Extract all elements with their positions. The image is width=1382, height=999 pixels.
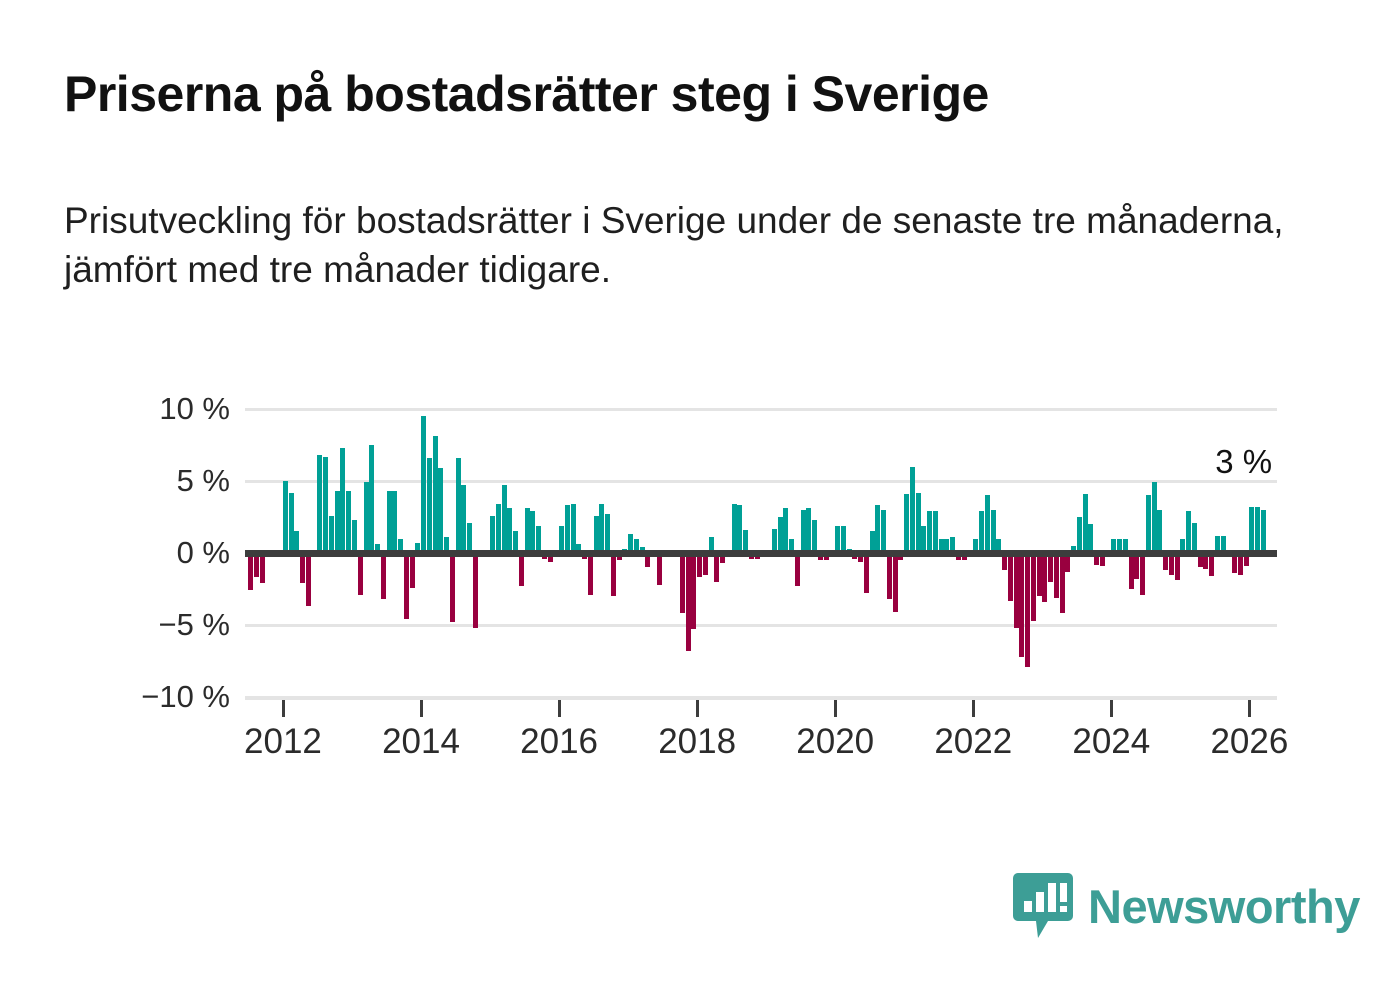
bar bbox=[438, 468, 443, 553]
bar bbox=[893, 553, 898, 612]
bar bbox=[1060, 553, 1065, 613]
bar bbox=[611, 553, 616, 596]
chart-page: Priserna på bostadsrätter steg i Sverige… bbox=[0, 0, 1382, 999]
bar bbox=[317, 455, 322, 553]
bar bbox=[559, 526, 564, 553]
bar bbox=[1146, 495, 1151, 553]
bar bbox=[910, 467, 915, 553]
bar bbox=[657, 553, 662, 585]
y-axis-tick-label: 0 % bbox=[70, 535, 230, 571]
bar bbox=[392, 491, 397, 553]
bar bbox=[991, 510, 996, 553]
bar bbox=[364, 482, 369, 553]
bar bbox=[340, 448, 345, 553]
bar bbox=[778, 517, 783, 553]
bar bbox=[433, 436, 438, 553]
x-axis-tick-mark bbox=[696, 700, 699, 717]
newsworthy-logo[interactable]: Newsworthy bbox=[1012, 872, 1360, 940]
x-axis-tick-label: 2018 bbox=[658, 722, 736, 762]
x-axis-tick-mark bbox=[1110, 700, 1113, 717]
bar bbox=[404, 553, 409, 619]
bar bbox=[473, 553, 478, 628]
bar bbox=[686, 553, 691, 651]
bar bbox=[864, 553, 869, 593]
bar bbox=[283, 481, 288, 553]
bar-chart: 10 %5 %0 %−5 %−10 % 20122014201620182020… bbox=[0, 370, 1382, 790]
bar bbox=[835, 526, 840, 553]
bar bbox=[427, 458, 432, 553]
bar bbox=[732, 504, 737, 553]
bar bbox=[1129, 553, 1134, 589]
bar bbox=[1031, 553, 1036, 621]
bar bbox=[921, 526, 926, 553]
bar bbox=[496, 504, 501, 553]
bar bbox=[346, 491, 351, 553]
bar bbox=[450, 553, 455, 622]
x-axis-tick-label: 2014 bbox=[382, 722, 460, 762]
bar bbox=[783, 508, 788, 553]
bar bbox=[1083, 494, 1088, 553]
x-axis-tick-mark bbox=[282, 700, 285, 717]
bar bbox=[329, 516, 334, 553]
bar bbox=[1192, 523, 1197, 553]
x-axis-tick-mark bbox=[972, 700, 975, 717]
bar bbox=[599, 504, 604, 553]
bar bbox=[1077, 517, 1082, 553]
page-title: Priserna på bostadsrätter steg i Sverige bbox=[64, 66, 1314, 122]
bar bbox=[490, 516, 495, 553]
bar bbox=[306, 553, 311, 606]
bar bbox=[1186, 511, 1191, 553]
bar bbox=[530, 511, 535, 553]
bar bbox=[456, 458, 461, 553]
bar bbox=[1175, 553, 1180, 580]
bar bbox=[875, 505, 880, 553]
bar bbox=[323, 457, 328, 553]
bar bbox=[691, 553, 696, 629]
bar bbox=[352, 520, 357, 553]
bar bbox=[588, 553, 593, 595]
bar bbox=[421, 416, 426, 553]
y-axis-tick-label: 5 % bbox=[70, 463, 230, 499]
x-axis-line bbox=[245, 697, 1277, 700]
bar bbox=[519, 553, 524, 586]
bar bbox=[1019, 553, 1024, 657]
plot-area bbox=[245, 409, 1277, 697]
y-axis-tick-label: −5 % bbox=[70, 607, 230, 643]
bar bbox=[1042, 553, 1047, 602]
bar bbox=[680, 553, 685, 613]
bar bbox=[841, 526, 846, 553]
bar bbox=[605, 514, 610, 553]
bar bbox=[387, 491, 392, 553]
bar bbox=[536, 526, 541, 553]
bar bbox=[381, 553, 386, 599]
x-axis-tick-mark bbox=[420, 700, 423, 717]
bar bbox=[410, 553, 415, 588]
bar bbox=[594, 516, 599, 553]
bar bbox=[1261, 510, 1266, 553]
bar bbox=[795, 553, 800, 586]
bar bbox=[927, 511, 932, 553]
bar bbox=[1048, 553, 1053, 582]
bar bbox=[507, 508, 512, 553]
y-axis-tick-label: −10 % bbox=[70, 679, 230, 715]
bar bbox=[335, 491, 340, 553]
bar bbox=[248, 553, 253, 590]
bar bbox=[358, 553, 363, 595]
bar bbox=[979, 511, 984, 553]
bar bbox=[737, 505, 742, 553]
bar bbox=[571, 504, 576, 553]
x-axis-tick-label: 2016 bbox=[520, 722, 598, 762]
bar bbox=[1025, 553, 1030, 667]
x-axis-tick-mark bbox=[834, 700, 837, 717]
bar bbox=[933, 511, 938, 553]
bar bbox=[714, 553, 719, 582]
bar bbox=[1249, 507, 1254, 553]
bar bbox=[887, 553, 892, 599]
x-axis-tick-mark bbox=[558, 700, 561, 717]
bar bbox=[467, 523, 472, 553]
bar bbox=[1152, 482, 1157, 553]
x-axis-tick-label: 2022 bbox=[934, 722, 1012, 762]
bar bbox=[1140, 553, 1145, 595]
bar bbox=[525, 508, 530, 553]
bar bbox=[1088, 524, 1093, 553]
page-subtitle: Prisutveckling för bostadsrätter i Sveri… bbox=[64, 196, 1344, 294]
bar bbox=[461, 485, 466, 553]
bar bbox=[260, 553, 265, 583]
x-axis-tick-label: 2012 bbox=[244, 722, 322, 762]
bar bbox=[369, 445, 374, 553]
x-axis-tick-label: 2026 bbox=[1210, 722, 1288, 762]
bar-chart-speech-bubble-icon bbox=[1012, 872, 1074, 940]
bar bbox=[565, 505, 570, 553]
bar bbox=[881, 510, 886, 553]
bar bbox=[289, 493, 294, 553]
bar bbox=[1008, 553, 1013, 601]
zero-baseline bbox=[245, 550, 1277, 557]
bar bbox=[1054, 553, 1059, 598]
y-axis-tick-label: 10 % bbox=[70, 391, 230, 427]
last-value-annotation: 3 % bbox=[1215, 443, 1272, 481]
bar bbox=[904, 494, 909, 553]
bar bbox=[502, 485, 507, 553]
bar bbox=[1037, 553, 1042, 596]
bar bbox=[806, 508, 811, 553]
x-axis-tick-label: 2020 bbox=[796, 722, 874, 762]
bar bbox=[1014, 553, 1019, 628]
newsworthy-logo-text: Newsworthy bbox=[1088, 883, 1360, 930]
bar bbox=[300, 553, 305, 583]
bar bbox=[801, 510, 806, 553]
bar bbox=[985, 495, 990, 553]
x-axis-tick-label: 2024 bbox=[1072, 722, 1150, 762]
bar bbox=[916, 493, 921, 553]
bar bbox=[812, 520, 817, 553]
bar bbox=[1255, 507, 1260, 553]
bar bbox=[1157, 510, 1162, 553]
x-axis-tick-mark bbox=[1248, 700, 1251, 717]
